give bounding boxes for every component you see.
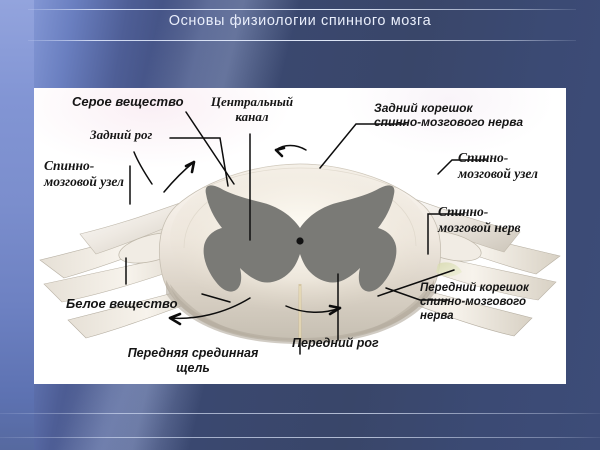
label-anterior-horn: Передний рог — [292, 336, 379, 351]
figure-panel: Серое вещество Задний рог Спинно- мозгов… — [34, 88, 566, 384]
label-spinal-ganglion-right: Спинно- мозговой узел — [458, 150, 538, 181]
bottom-rule-lower — [0, 437, 600, 438]
label-posterior-root: Задний корешок спинно-мозгового нерва — [374, 102, 523, 130]
bottom-rule-upper — [0, 413, 600, 414]
label-anterior-root: Передний корешок спинно-мозгового нерва — [420, 282, 529, 323]
page-title: Основы физиологии спинного мозга — [0, 13, 600, 29]
slide: Основы физиологии спинного мозга — [0, 0, 600, 450]
label-spinal-nerve: Спинно- мозговой нерв — [438, 204, 521, 235]
label-posterior-horn: Задний рог — [90, 127, 152, 142]
label-spinal-ganglion-left: Спинно- мозговой узел — [44, 158, 124, 189]
left-accent-band — [0, 0, 34, 450]
title-rule-top — [28, 9, 576, 10]
label-white-matter: Белое вещество — [66, 296, 178, 311]
label-central-canal: Центральный канал — [194, 94, 310, 124]
central-canal-dot — [296, 237, 303, 244]
title-band: Основы физиологии спинного мозга — [0, 0, 600, 52]
label-gray-matter: Серое вещество — [72, 94, 184, 109]
label-anterior-fissure: Передняя срединная щель — [98, 346, 288, 375]
title-rule-bottom — [28, 40, 576, 41]
